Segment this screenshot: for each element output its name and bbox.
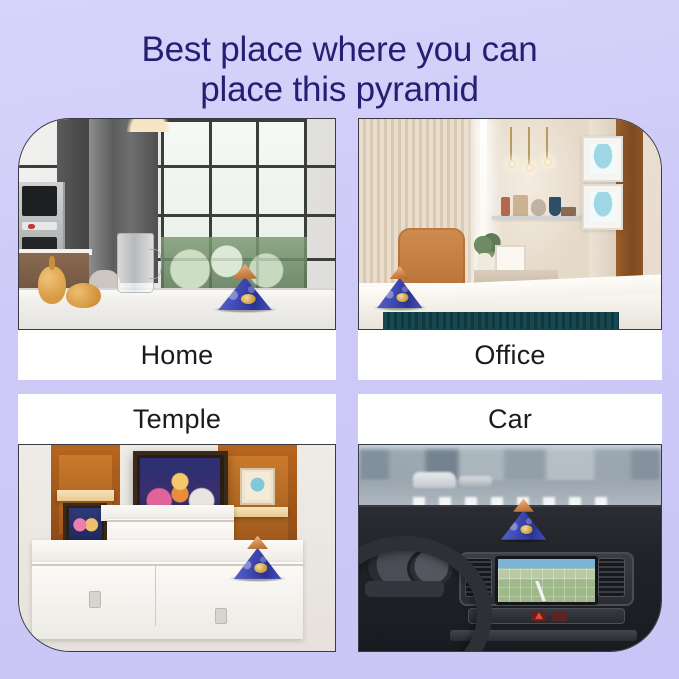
label-band-temple: Temple bbox=[18, 394, 336, 444]
air-vent-right-icon bbox=[598, 558, 625, 597]
deity-frame-right bbox=[240, 468, 275, 505]
wall-art-frame-lower bbox=[582, 184, 622, 230]
placement-card-office[interactable]: Office bbox=[358, 118, 662, 380]
placement-card-home[interactable]: Home bbox=[18, 118, 336, 380]
pendant-light-icon bbox=[544, 158, 552, 166]
pendant-light-icon bbox=[508, 160, 516, 168]
pyramid-product-car bbox=[501, 499, 546, 540]
scene-car-dashboard bbox=[359, 445, 661, 651]
climate-button[interactable] bbox=[552, 611, 567, 621]
hazard-light-button[interactable] bbox=[531, 611, 546, 621]
pyramid-product-temple bbox=[234, 536, 281, 579]
scene-temple-mandir bbox=[19, 445, 335, 651]
scene-office-reception bbox=[359, 119, 661, 329]
scene-home-kitchen bbox=[19, 119, 335, 329]
navigation-screen[interactable] bbox=[495, 556, 598, 605]
poster-canvas: Best place where you can place this pyra… bbox=[0, 0, 679, 679]
wall-art-frame-upper bbox=[582, 136, 622, 182]
page-title-line-1: Best place where you can bbox=[0, 30, 679, 70]
label-band-office: Office bbox=[358, 330, 662, 380]
photo-office bbox=[358, 118, 662, 330]
card-label-home: Home bbox=[141, 340, 214, 370]
pyramid-product-office bbox=[377, 266, 422, 308]
label-band-car: Car bbox=[358, 394, 662, 444]
placement-grid: Home bbox=[18, 118, 662, 662]
photo-car bbox=[358, 444, 662, 652]
label-band-home: Home bbox=[18, 330, 336, 380]
card-label-car: Car bbox=[488, 404, 532, 434]
card-label-temple: Temple bbox=[133, 404, 221, 434]
placement-card-car[interactable]: Car bbox=[358, 394, 662, 652]
page-title-line-2: place this pyramid bbox=[0, 70, 679, 110]
pyramid-product-home bbox=[218, 264, 272, 310]
page-title: Best place where you can place this pyra… bbox=[0, 30, 679, 110]
photo-temple bbox=[18, 444, 336, 652]
placement-card-temple[interactable]: Temple bbox=[18, 394, 336, 652]
pendant-light-icon bbox=[526, 164, 534, 172]
card-label-office: Office bbox=[474, 340, 545, 370]
photo-home bbox=[18, 118, 336, 330]
